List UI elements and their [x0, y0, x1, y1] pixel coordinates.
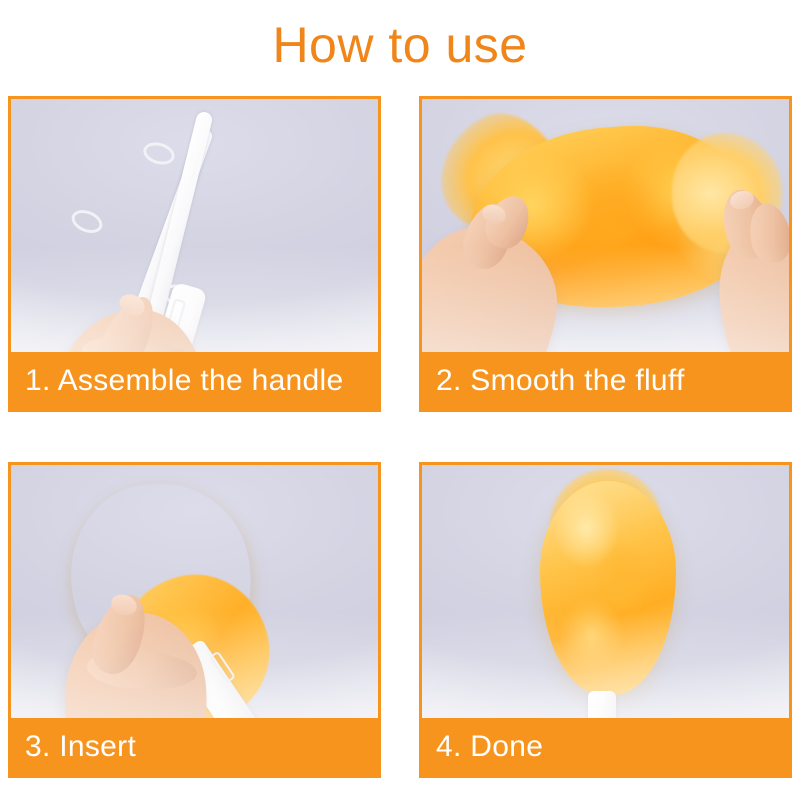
handle-clip-icon	[141, 139, 178, 168]
step-2-photo	[422, 99, 789, 352]
step-4-caption: 4. Done	[422, 718, 789, 775]
step-card-1[interactable]: 1. Assemble the handle	[8, 96, 381, 412]
step-3-photo	[11, 465, 378, 718]
step-2-caption: 2. Smooth the fluff	[422, 352, 789, 409]
step-4-photo	[422, 465, 789, 718]
step-1-caption: 1. Assemble the handle	[11, 352, 378, 409]
step-card-2[interactable]: 2. Smooth the fluff	[419, 96, 792, 412]
page-title: How to use	[0, 14, 800, 76]
step-3-caption: 3. Insert	[11, 718, 378, 775]
handle-clip-icon	[68, 206, 106, 237]
white-stem-icon	[588, 691, 616, 718]
steps-grid: 1. Assemble the handle 2. Smooth the flu…	[8, 96, 792, 778]
step-card-3[interactable]: 3. Insert	[8, 462, 381, 778]
step-card-4[interactable]: 4. Done	[419, 462, 792, 778]
step-1-photo	[11, 99, 378, 352]
